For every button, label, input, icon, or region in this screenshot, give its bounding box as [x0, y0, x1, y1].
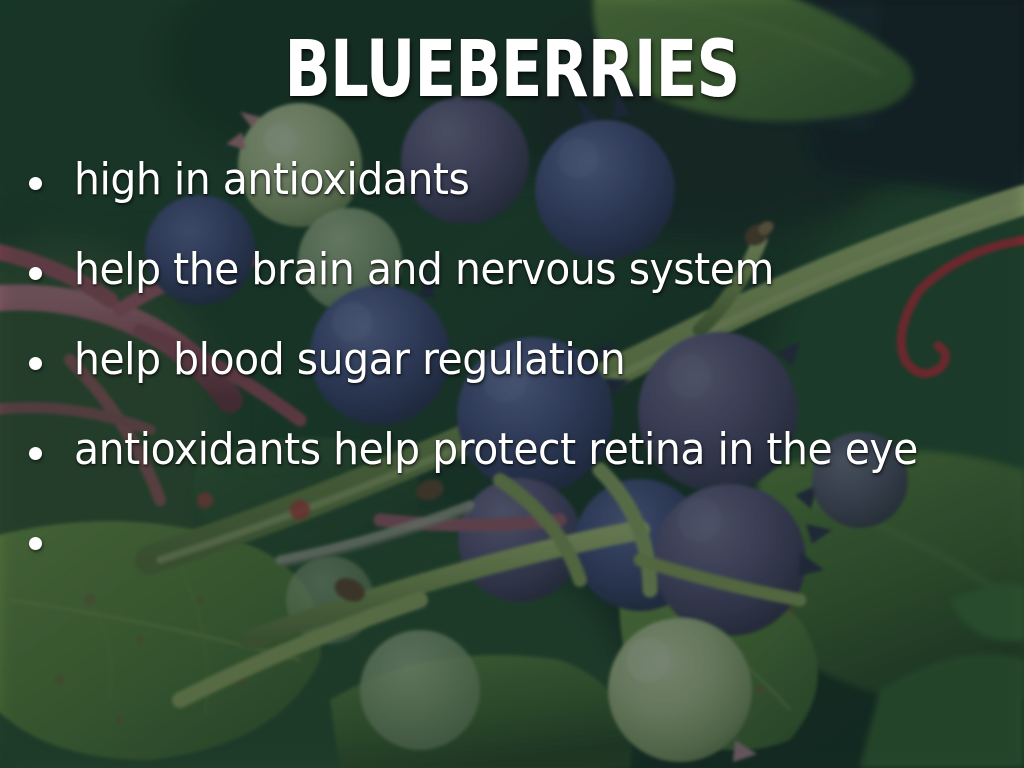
bullet-dot-icon — [29, 357, 42, 370]
list-item[interactable]: antioxidants help protect retina in the … — [22, 422, 1002, 512]
page-title: BLUEBERRIES — [113, 30, 912, 110]
list-item[interactable]: help the brain and nervous system — [22, 242, 1002, 332]
bullet-dot-icon — [29, 447, 42, 460]
slide-content: BLUEBERRIES high in antioxidants help th… — [0, 0, 1024, 768]
list-item-empty[interactable] — [22, 512, 1002, 602]
list-item[interactable]: high in antioxidants — [22, 152, 1002, 242]
list-item-label: help the brain and nervous system — [74, 242, 774, 298]
presentation-slide: BLUEBERRIES high in antioxidants help th… — [0, 0, 1024, 768]
list-item[interactable]: help blood sugar regulation — [22, 332, 1002, 422]
list-item-label: antioxidants help protect retina in the … — [74, 422, 918, 478]
list-item-label: help blood sugar regulation — [74, 332, 625, 388]
bullet-dot-icon — [29, 537, 42, 550]
bullet-dot-icon — [29, 267, 42, 280]
bullet-list: high in antioxidants help the brain and … — [22, 152, 1002, 602]
list-item-label: high in antioxidants — [74, 152, 469, 208]
bullet-dot-icon — [29, 177, 42, 190]
